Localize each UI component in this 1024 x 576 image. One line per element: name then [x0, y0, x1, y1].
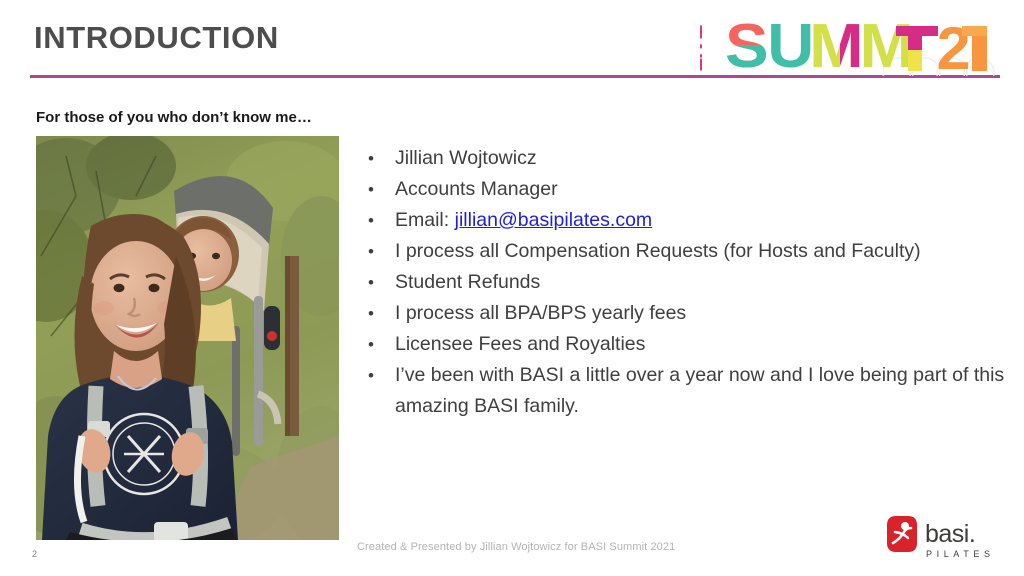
bullet-marker: •	[368, 205, 395, 236]
bullet-text: I process all Compensation Requests (for…	[395, 236, 1008, 267]
bullet-text: Email: jillian@basipilates.com	[395, 205, 1008, 236]
list-item: • Student Refunds	[368, 267, 1008, 298]
svg-text:2: 2	[937, 15, 971, 76]
list-item: • I process all BPA/BPS yearly fees	[368, 298, 1008, 329]
svg-text:M: M	[860, 14, 914, 76]
bullet-text: Jillian Wojtowicz	[395, 143, 1008, 174]
basi-pilates-logo: basi. PILATES	[884, 513, 1002, 561]
bullet-marker: •	[368, 236, 395, 267]
slide-canvas: INTRODUCTION LIVE S	[0, 0, 1024, 576]
bullet-marker: •	[368, 298, 395, 329]
list-item: • I process all Compensation Requests (f…	[368, 236, 1008, 267]
bullet-marker: •	[368, 360, 395, 391]
bullet-text: Student Refunds	[395, 267, 1008, 298]
list-item: • Jillian Wojtowicz	[368, 143, 1008, 174]
basi-wordmark: basi.	[925, 520, 975, 548]
bullet-marker: •	[368, 267, 395, 298]
basi-tagline: PILATES	[926, 549, 995, 559]
list-item-email: • Email: jillian@basipilates.com	[368, 205, 1008, 236]
live-summit-21-logo: LIVE S S U M M	[700, 14, 1005, 76]
page-number: 2	[32, 549, 37, 559]
bullet-text: Licensee Fees and Royalties	[395, 329, 1008, 360]
email-label: Email:	[395, 209, 455, 231]
bullet-marker: •	[368, 329, 395, 360]
list-item: • Accounts Manager	[368, 174, 1008, 205]
basi-mark-icon	[887, 516, 917, 552]
page-title: INTRODUCTION	[34, 20, 279, 56]
email-link[interactable]: jillian@basipilates.com	[455, 209, 653, 231]
footer-credit: Created & Presented by Jillian Wojtowicz…	[357, 541, 675, 553]
svg-text:U: U	[767, 14, 814, 76]
bullet-text: I process all BPA/BPS yearly fees	[395, 298, 1008, 329]
intro-bullet-list: • Jillian Wojtowicz • Accounts Manager •…	[368, 143, 1008, 422]
speaker-photo	[36, 136, 339, 540]
bullet-marker: •	[368, 143, 395, 174]
slide-subtitle: For those of you who don’t know me…	[36, 109, 312, 126]
bullet-marker: •	[368, 174, 395, 205]
list-item: • Licensee Fees and Royalties	[368, 329, 1008, 360]
bullet-text: I’ve been with BASI a little over a year…	[395, 360, 1008, 422]
svg-text:LIVE: LIVE	[700, 25, 708, 72]
list-item: • I’ve been with BASI a little over a ye…	[368, 360, 1008, 422]
bullet-text: Accounts Manager	[395, 174, 1008, 205]
